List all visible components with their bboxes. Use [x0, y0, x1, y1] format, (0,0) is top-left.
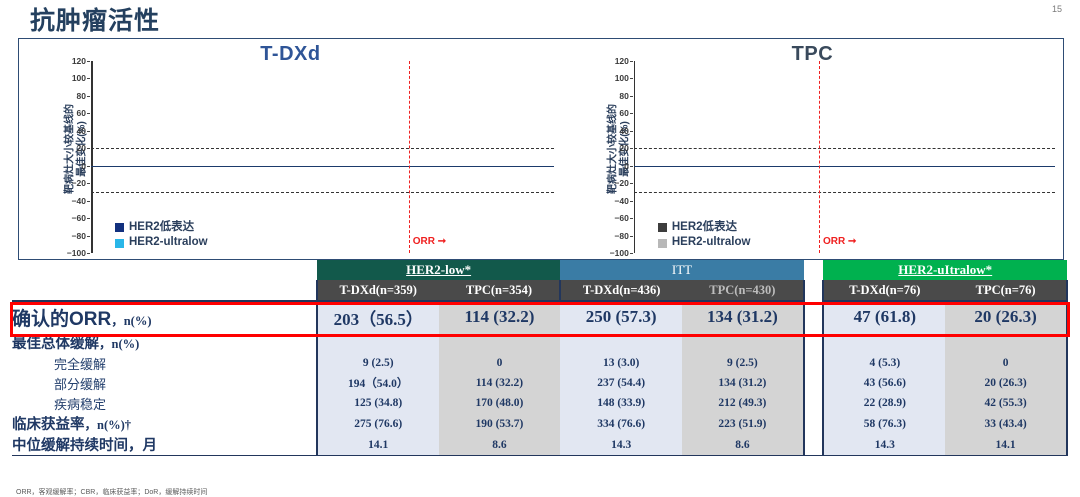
y-tick--40: −40 [72, 196, 86, 206]
legend-item: HER2低表达 [658, 220, 751, 236]
row-label: 部分缓解 [12, 373, 317, 393]
group-header-itt: ITT [560, 260, 803, 280]
table-cell [823, 332, 945, 353]
row-label: 疾病稳定 [12, 393, 317, 413]
subheader-tpc-ultralow: TPC(n=76) [945, 280, 1067, 301]
table-cell [560, 332, 682, 353]
y-tick--80: −80 [614, 231, 628, 241]
legend-item: HER2低表达 [115, 220, 208, 236]
y-tick--20: −20 [72, 178, 86, 188]
row-label-suffix: ，n(%)† [85, 418, 132, 432]
y-tick-40: 40 [619, 126, 628, 136]
table-cell: 8.6 [439, 434, 561, 456]
table-cell: 223 (51.9) [682, 413, 804, 434]
reference-line-20 [91, 148, 554, 149]
y-tick--60: −60 [72, 213, 86, 223]
y-tick-100: 100 [615, 73, 629, 83]
table-cell: 125 (34.8) [317, 393, 439, 413]
legend-swatch-icon [658, 223, 667, 232]
table-cell: 58 (76.3) [823, 413, 945, 434]
table-cell: 134 (31.2) [682, 373, 804, 393]
y-tick--20: −20 [614, 178, 628, 188]
subheader-spacer [12, 280, 317, 301]
row-label: 临床获益率，n(%)† [12, 413, 317, 434]
row-label: 最佳总体缓解，n(%) [12, 332, 317, 353]
chart-tpc-yaxis-ticks: 120100806040200−20−40−60−80−100 [600, 61, 632, 253]
table-cell: 20 (26.3) [945, 301, 1067, 332]
table-row: 部分缓解194（54.0）114 (32.2)237 (54.4)134 (31… [12, 373, 1067, 393]
y-tick-0: 0 [624, 161, 629, 171]
table-row-orr: 确认的ORR，n(%)203（56.5）114 (32.2)250 (57.3)… [12, 301, 1067, 332]
header-gap [804, 260, 824, 280]
row-label-text: 完全缓解 [54, 357, 106, 372]
chart-tdxd-yaxis-ticks: 120100806040200−20−40−60−80−100 [57, 61, 89, 253]
row-label: 确认的ORR，n(%) [12, 301, 317, 332]
legend-item: HER2-ultralow [115, 235, 208, 251]
table-row: 疾病稳定125 (34.8)170 (48.0)148 (33.9)212 (4… [12, 393, 1067, 413]
table-cell: 43 (56.6) [823, 373, 945, 393]
y-tick-60: 60 [619, 108, 628, 118]
table-cell: 275 (76.6) [317, 413, 439, 434]
table-footnote: ORR，客观缓解率；CBR，临床获益率；DoR，缓解持续时间 [16, 487, 207, 497]
table-cell [317, 332, 439, 353]
table-cell: 250 (57.3) [560, 301, 682, 332]
zero-line [634, 166, 1055, 167]
table-cell [439, 332, 561, 353]
y-tick--40: −40 [614, 196, 628, 206]
row-label-text: 确认的ORR [12, 309, 111, 330]
y-tick--100: −100 [610, 248, 629, 258]
subheader-tpc-low: TPC(n=354) [439, 280, 561, 301]
y-tick-60: 60 [77, 108, 86, 118]
table-cell: 170 (48.0) [439, 393, 561, 413]
legend-label: HER2-ultralow [672, 235, 751, 251]
row-label-text: 中位缓解持续时间，月 [12, 438, 157, 454]
table-cell: 14.1 [317, 434, 439, 456]
chart-tdxd-legend: HER2低表达HER2-ultralow [115, 220, 208, 251]
subheader-tpc-itt: TPC(n=430) [682, 280, 804, 301]
waterfall-charts-panel: T-DXd 靶病灶大小较基线的 最佳变化(%) 120100806040200−… [18, 38, 1064, 260]
table-cell: 42 (55.3) [945, 393, 1067, 413]
chart-tdxd: T-DXd 靶病灶大小较基线的 最佳变化(%) 120100806040200−… [19, 39, 562, 259]
y-tick-0: 0 [81, 161, 86, 171]
table-cell: 0 [945, 353, 1067, 373]
table-cell: 13 (3.0) [560, 353, 682, 373]
reference-line--30 [91, 192, 554, 193]
row-label: 完全缓解 [12, 353, 317, 373]
table-cell: 33 (43.4) [945, 413, 1067, 434]
legend-label: HER2-ultralow [129, 235, 208, 251]
table-cell: 194（54.0） [317, 373, 439, 393]
table-cell: 14.3 [560, 434, 682, 456]
row-label-text: 部分缓解 [54, 377, 106, 392]
table-cell: 212 (49.3) [682, 393, 804, 413]
table-cell: 14.1 [945, 434, 1067, 456]
orr-threshold-line [409, 61, 410, 253]
table-cell: 114 (32.2) [439, 301, 561, 332]
chart-tdxd-orr-label: ORR ➞ [413, 236, 446, 247]
table-cell: 114 (32.2) [439, 373, 561, 393]
y-tick--60: −60 [614, 213, 628, 223]
y-tick-80: 80 [77, 91, 86, 101]
table-row: 临床获益率，n(%)†275 (76.6)190 (53.7)334 (76.6… [12, 413, 1067, 434]
table-subheader-row: T-DXd(n=359) TPC(n=354) T-DXd(n=436) TPC… [12, 280, 1067, 301]
chart-tpc: TPC 靶病灶大小较基线的 最佳变化(%) 120100806040200−20… [562, 39, 1063, 259]
table-cell: 0 [439, 353, 561, 373]
column-gap [804, 373, 824, 393]
y-tick-20: 20 [77, 143, 86, 153]
table-cell: 22 (28.9) [823, 393, 945, 413]
legend-swatch-icon [115, 239, 124, 248]
group-header-her2-ultralow: HER2-uItralow* [823, 260, 1067, 280]
chart-tpc-orr-label: ORR ➞ [823, 236, 856, 247]
zero-line [91, 166, 554, 167]
subheader-tdxd-itt: T-DXd(n=436) [560, 280, 682, 301]
y-tick--80: −80 [72, 231, 86, 241]
subheader-tdxd-ultralow: T-DXd(n=76) [823, 280, 945, 301]
table-cell: 148 (33.9) [560, 393, 682, 413]
column-gap [804, 301, 824, 332]
table-group-header-row: HER2-low* ITT HER2-uItralow* [12, 260, 1067, 280]
table-cell: 47 (61.8) [823, 301, 945, 332]
table-cell: 190 (53.7) [439, 413, 561, 434]
column-gap [804, 353, 824, 373]
y-tick-100: 100 [72, 73, 86, 83]
subheader-tdxd-low: T-DXd(n=359) [317, 280, 439, 301]
y-tick--100: −100 [67, 248, 86, 258]
table-cell: 334 (76.6) [560, 413, 682, 434]
table-cell: 8.6 [682, 434, 804, 456]
reference-line-20 [634, 148, 1055, 149]
row-label-suffix: ，n(%) [99, 337, 139, 351]
page-number: 15 [1052, 4, 1062, 14]
y-tick-20: 20 [619, 143, 628, 153]
row-label-text: 疾病稳定 [54, 397, 106, 412]
table-row: 中位缓解持续时间，月14.18.614.38.614.314.1 [12, 434, 1067, 456]
table-cell: 9 (2.5) [317, 353, 439, 373]
reference-line--30 [634, 192, 1055, 193]
y-tick-40: 40 [77, 126, 86, 136]
orr-threshold-line [819, 61, 820, 253]
subheader-gap [804, 280, 824, 301]
table-body: 确认的ORR，n(%)203（56.5）114 (32.2)250 (57.3)… [12, 301, 1067, 456]
column-gap [804, 413, 824, 434]
table-cell: 20 (26.3) [945, 373, 1067, 393]
y-tick-120: 120 [72, 56, 86, 66]
row-label-suffix: ，n(%) [111, 314, 151, 328]
legend-label: HER2低表达 [672, 220, 737, 236]
y-tick-120: 120 [615, 56, 629, 66]
row-label-text: 临床获益率 [12, 417, 85, 433]
table-cell: 134 (31.2) [682, 301, 804, 332]
table-cell [945, 332, 1067, 353]
table-cell: 237 (54.4) [560, 373, 682, 393]
table-cell [682, 332, 804, 353]
table-cell: 9 (2.5) [682, 353, 804, 373]
legend-swatch-icon [658, 239, 667, 248]
page-title: 抗肿瘤活性 [30, 1, 160, 37]
table-cell: 4 (5.3) [823, 353, 945, 373]
table-row: 最佳总体缓解，n(%) [12, 332, 1067, 353]
column-gap [804, 332, 824, 353]
group-header-her2-low: HER2-low* [317, 260, 560, 280]
legend-swatch-icon [115, 223, 124, 232]
legend-label: HER2低表达 [129, 220, 194, 236]
table-cell: 203（56.5） [317, 301, 439, 332]
results-table: HER2-low* ITT HER2-uItralow* T-DXd(n=359… [12, 260, 1068, 456]
table-row: 完全缓解9 (2.5)013 (3.0)9 (2.5)4 (5.3)0 [12, 353, 1067, 373]
chart-tpc-legend: HER2低表达HER2-ultralow [658, 220, 751, 251]
header-spacer [12, 260, 317, 280]
column-gap [804, 393, 824, 413]
legend-item: HER2-ultralow [658, 235, 751, 251]
row-label-text: 最佳总体缓解 [12, 336, 99, 352]
column-gap [804, 434, 824, 456]
table-cell: 14.3 [823, 434, 945, 456]
row-label: 中位缓解持续时间，月 [12, 434, 317, 456]
y-tick-80: 80 [619, 91, 628, 101]
